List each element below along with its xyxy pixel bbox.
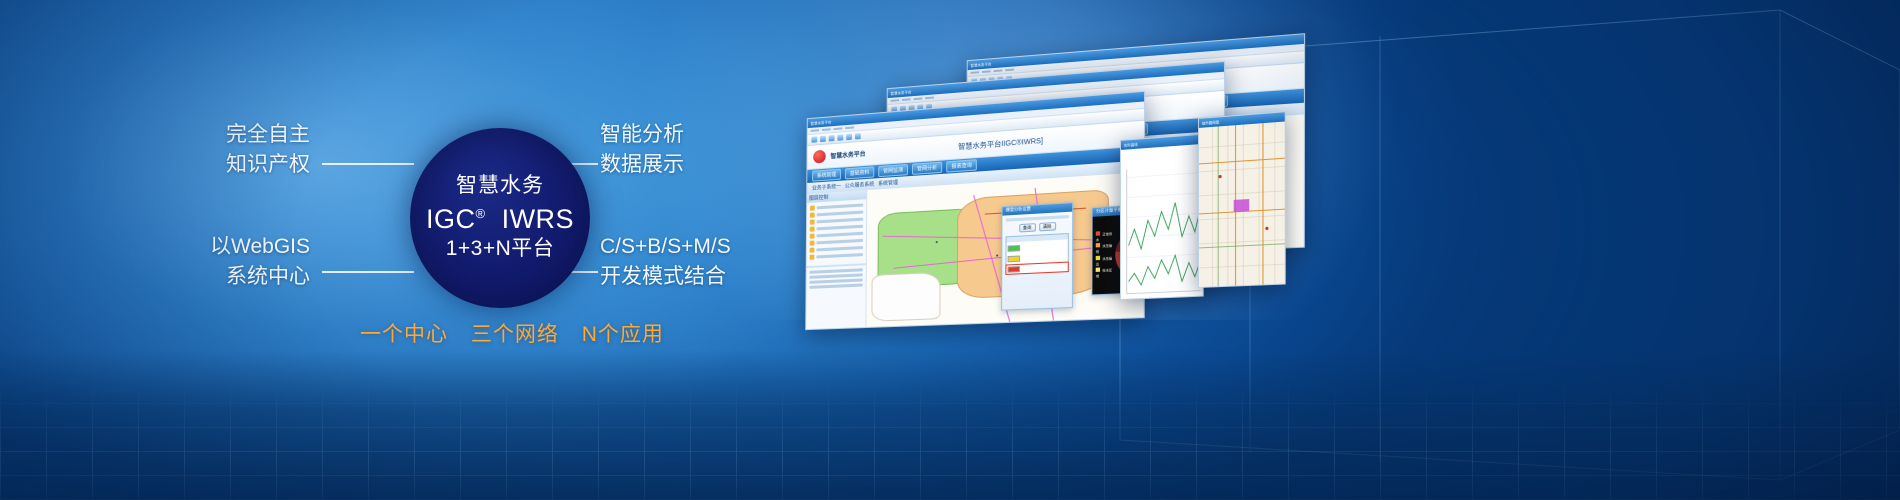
app-brand-name: 智慧水务平台 bbox=[830, 149, 865, 161]
folder-icon bbox=[810, 241, 815, 246]
analysis-panel[interactable]: 爆管分析设置 查询 清除 bbox=[1001, 202, 1073, 311]
layer-tree-panel[interactable]: 图层控制 bbox=[806, 190, 867, 329]
menu-item[interactable] bbox=[1005, 69, 1014, 72]
legend-entry: 水压偏高 bbox=[1096, 255, 1113, 268]
layer-tree-item-label bbox=[816, 239, 863, 245]
status-swatch-red bbox=[1007, 266, 1020, 273]
chart-legend: 正常供水 水压偏低 水压偏高 停水区域 bbox=[1096, 231, 1113, 280]
table-row bbox=[1007, 242, 1068, 254]
clear-button[interactable]: 清除 bbox=[1039, 222, 1056, 231]
subnav-item[interactable]: 业务子系统一 bbox=[812, 183, 841, 192]
attribute-value bbox=[809, 283, 862, 288]
layer-tree-item-label bbox=[817, 203, 864, 209]
menu-item[interactable] bbox=[902, 98, 911, 101]
feature-label-top-right: 智能分析 数据展示 bbox=[600, 120, 684, 180]
toolbar-icon[interactable] bbox=[837, 134, 843, 140]
feature-label-bottom-left: 以WebGIS 系统中心 bbox=[160, 232, 310, 292]
feature-label-bottom-right: C/S+B/S+M/S 开发模式结合 bbox=[600, 232, 731, 292]
feature-label-bottom-right-line1: C/S+B/S+M/S bbox=[600, 232, 731, 262]
folder-icon bbox=[810, 212, 815, 217]
window-title: 实时曲线 bbox=[1124, 141, 1138, 147]
table-row bbox=[1006, 252, 1067, 263]
product-badge-title: 智慧水务 bbox=[456, 174, 544, 199]
folder-icon bbox=[810, 248, 815, 253]
gis-map-canvas[interactable]: 爆管分析设置 查询 清除 bbox=[866, 172, 1144, 327]
window-title: 智慧水务平台 bbox=[891, 89, 912, 96]
toolbar-icon[interactable] bbox=[820, 136, 826, 142]
feature-label-bottom-left-line2: 系统中心 bbox=[160, 262, 310, 292]
feature-label-bottom-right-line2: 开发模式结合 bbox=[600, 262, 731, 292]
app-window-front[interactable]: 智慧水务平台 智慧水务平台 智慧水务平台IIGC®IWRS] 系统管理 基础资料… bbox=[805, 91, 1145, 330]
tagline-item-3: N个应用 bbox=[582, 323, 664, 346]
subnav-item[interactable]: 公众服务系统 bbox=[845, 180, 874, 189]
tagline-item-2: 三个网络 bbox=[471, 323, 559, 346]
feature-label-top-left-line1: 完全自主 bbox=[180, 120, 310, 150]
menu-item[interactable] bbox=[982, 70, 991, 73]
subnav-item[interactable]: 系统管理 bbox=[878, 179, 898, 187]
legend-entry: 停水区域 bbox=[1096, 267, 1113, 280]
nav-item[interactable]: 管网监测 bbox=[878, 164, 908, 177]
legend-entry: 水压偏低 bbox=[1096, 243, 1113, 256]
feature-label-bottom-left-line1: 以WebGIS bbox=[160, 232, 310, 262]
window-title: 城市路网图 bbox=[1202, 119, 1219, 126]
attribute-row bbox=[809, 283, 862, 288]
table-row-selected bbox=[1006, 263, 1067, 274]
product-badge-platform: 1+3+N平台 bbox=[446, 237, 555, 262]
analysis-result-table bbox=[1005, 233, 1068, 275]
feature-label-top-right-line2: 数据展示 bbox=[600, 150, 684, 180]
screenshot-stack: 智慧水务平台 智慧水务平台 智慧水务平台IIGC®IWRS] 系统管理 基础资料… bbox=[790, 0, 1900, 500]
registered-mark-icon: ® bbox=[475, 206, 485, 221]
map-region-white bbox=[872, 271, 941, 321]
toolbar-icon[interactable] bbox=[855, 133, 861, 139]
nav-item[interactable]: 管网分析 bbox=[912, 162, 942, 175]
folder-icon bbox=[810, 205, 815, 210]
legend-swatch bbox=[1096, 231, 1100, 235]
window-body: 图层控制 bbox=[806, 172, 1144, 329]
legend-swatch bbox=[1096, 255, 1100, 259]
menu-item[interactable] bbox=[834, 127, 843, 130]
toolbar-icon[interactable] bbox=[846, 134, 852, 140]
layer-tree-item[interactable] bbox=[810, 252, 863, 260]
tagline: 一个中心 三个网络 N个应用 bbox=[360, 318, 664, 348]
menu-item[interactable] bbox=[811, 129, 820, 132]
line-chart-svg bbox=[1121, 144, 1203, 299]
nav-item[interactable]: 报表查询 bbox=[946, 159, 977, 172]
menu-item[interactable] bbox=[845, 126, 854, 129]
menu-item[interactable] bbox=[822, 128, 831, 131]
product-badge-product: IGC® IWRS bbox=[426, 204, 574, 236]
attribute-panel-header bbox=[807, 263, 866, 268]
layer-tree-item-label bbox=[816, 253, 863, 258]
menu-item[interactable] bbox=[914, 97, 923, 100]
product-badge-iwrs: IWRS bbox=[502, 204, 575, 234]
analysis-panel-body: 查询 清除 bbox=[1002, 212, 1072, 279]
roadmap-svg bbox=[1199, 122, 1285, 287]
folder-icon bbox=[810, 219, 815, 224]
feature-label-top-right-line1: 智能分析 bbox=[600, 120, 684, 150]
product-badge: 智慧水务 IGC® IWRS 1+3+N平台 bbox=[410, 128, 590, 308]
connector-line-top-left bbox=[322, 163, 414, 165]
product-badge-igc: IGC bbox=[426, 204, 476, 234]
layer-tree-item-label bbox=[816, 246, 863, 251]
roadmap-canvas[interactable] bbox=[1199, 122, 1285, 287]
menu-item[interactable] bbox=[970, 71, 979, 74]
query-button[interactable]: 查询 bbox=[1019, 223, 1036, 232]
window-title: 智慧水务平台 bbox=[971, 61, 992, 68]
hero-banner: 完全自主 知识产权 以WebGIS 系统中心 智能分析 数据展示 C/S+B/S… bbox=[0, 0, 1900, 500]
legend-swatch bbox=[1096, 267, 1100, 271]
layer-tree-item-label bbox=[817, 211, 864, 217]
analysis-input[interactable] bbox=[1006, 215, 1069, 222]
legend-entry: 正常供水 bbox=[1096, 231, 1113, 244]
layer-tree-item-label bbox=[817, 218, 864, 224]
folder-icon bbox=[810, 234, 815, 239]
connector-line-bottom-left bbox=[322, 271, 414, 273]
tagline-item-1: 一个中心 bbox=[360, 323, 448, 346]
layer-tree-item-label bbox=[816, 232, 863, 238]
roadmap-window[interactable]: 城市路网图 bbox=[1198, 111, 1286, 288]
chart-window[interactable]: 实时曲线 bbox=[1120, 134, 1204, 300]
hero-content: 完全自主 知识产权 以WebGIS 系统中心 智能分析 数据展示 C/S+B/S… bbox=[0, 0, 900, 500]
nav-item[interactable]: 基础资料 bbox=[845, 166, 874, 179]
app-logo-icon bbox=[813, 150, 826, 164]
toolbar-icon[interactable] bbox=[829, 135, 835, 141]
folder-icon bbox=[810, 227, 815, 232]
feature-label-top-left: 完全自主 知识产权 bbox=[180, 120, 310, 180]
window-title: 智慧水务平台 bbox=[811, 119, 832, 126]
status-swatch-green bbox=[1008, 245, 1021, 252]
folder-icon bbox=[810, 255, 815, 260]
menu-item[interactable] bbox=[891, 99, 900, 102]
legend-swatch bbox=[1096, 243, 1100, 247]
line-chart bbox=[1121, 144, 1203, 299]
layer-tree-item-label bbox=[816, 225, 863, 231]
menu-item[interactable] bbox=[925, 96, 934, 99]
status-swatch-yellow bbox=[1008, 256, 1021, 263]
nav-item[interactable]: 系统管理 bbox=[812, 169, 841, 182]
menu-item[interactable] bbox=[994, 69, 1003, 72]
feature-label-top-left-line2: 知识产权 bbox=[180, 150, 310, 180]
toolbar-icon[interactable] bbox=[811, 136, 817, 142]
